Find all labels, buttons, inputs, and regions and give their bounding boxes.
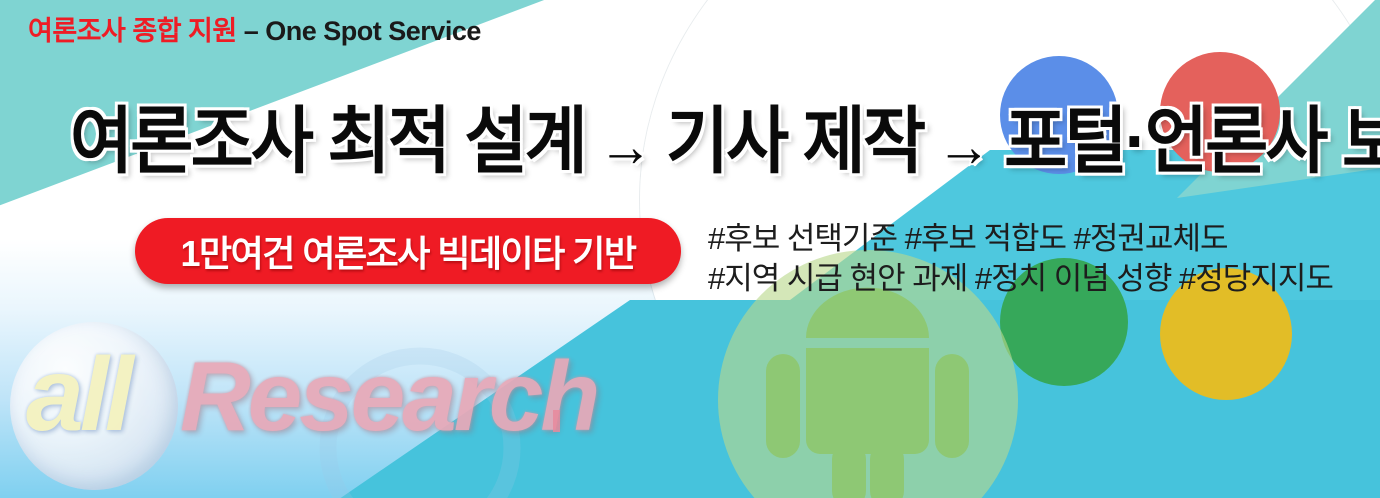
hashtag-line-2: #지역 시급 현안 과제 #정치 이념 성향 #정당지지도 <box>708 259 1333 299</box>
arrow-right-icon-1: → <box>585 114 666 179</box>
android-robot-icon <box>760 282 975 498</box>
headline: 여론조사 최적 설계→기사 제작→포털·언론사 보도 <box>70 82 1380 188</box>
headline-step-2: 기사 제작 <box>666 101 923 182</box>
logo-text-all: all <box>26 336 130 455</box>
logo-accent-mark <box>553 410 560 432</box>
hashtag-line-1: #후보 선택기준 #후보 적합도 #정권교체도 <box>708 219 1333 259</box>
headline-step-3: 포털·언론사 보도 <box>1004 101 1380 182</box>
tagline-korean: 여론조사 종합 지원 <box>28 16 237 46</box>
promo-banner: all Research 여론조사 종합 지원 – One Spot Servi… <box>0 0 1380 498</box>
logo-text-research: Research <box>180 340 597 453</box>
tagline-english: One Spot Service <box>265 16 481 46</box>
arrow-right-icon-2: → <box>923 114 1004 179</box>
headline-step-1: 여론조사 최적 설계 <box>70 101 585 182</box>
allresearch-logo: all Research <box>8 318 578 488</box>
hashtag-list: #후보 선택기준 #후보 적합도 #정권교체도 #지역 시급 현안 과제 #정치… <box>708 219 1333 300</box>
bigdata-badge: 1만여건 여론조사 빅데이타 기반 <box>135 218 681 284</box>
tagline-separator: – <box>237 16 266 46</box>
tagline: 여론조사 종합 지원 – One Spot Service <box>28 9 481 48</box>
bigdata-badge-label: 1만여건 여론조사 빅데이타 기반 <box>180 225 635 277</box>
